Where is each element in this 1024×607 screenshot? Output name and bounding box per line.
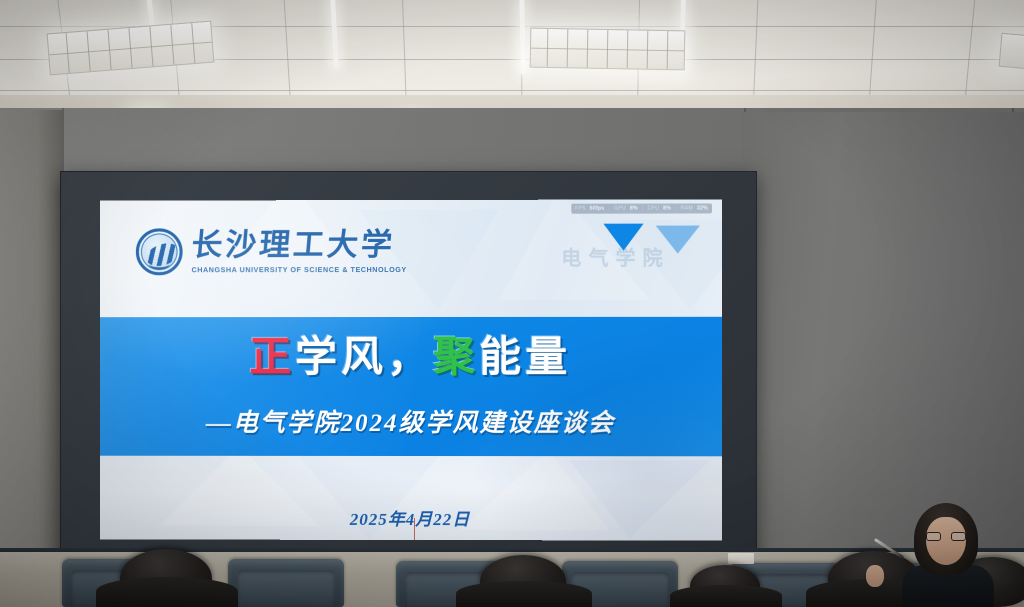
slide-header: FPS 60fps | GPU 8% | CPU 8% | RAM 32% [100,199,722,317]
presenter-hand [866,565,884,587]
ceiling-panel-light [530,28,686,71]
osd-gpu-label: GPU [614,206,626,212]
triangle-down-icon [656,226,700,254]
projected-slide: FPS 60fps | GPU 8% | CPU 8% | RAM 32% [100,199,722,540]
osd-fps-value: 60fps [590,206,605,212]
slide-title-band: 正学风，聚能量 —电气学院2024级学风建设座谈会 [100,317,722,456]
university-logo: 长沙理工大学 CHANGSHA UNIVERSITY OF SCIENCE & … [136,228,407,275]
university-crest-icon [136,228,183,275]
osd-ram-label: RAM [681,205,693,211]
triangle-down-icon [603,224,643,251]
osd-cpu-label: CPU [647,206,659,212]
headline-rest-1: 学风， [295,335,433,381]
slide-footer: 2025年4月22日 [100,456,722,541]
audience-shoulder [670,585,782,607]
text-caret [414,518,415,541]
university-name-en: CHANGSHA UNIVERSITY OF SCIENCE & TECHNOL… [192,265,407,274]
osd-fps-label: FPS [575,206,586,212]
osd-separator: | [675,206,677,212]
osd-overlay: FPS 60fps | GPU 8% | CPU 8% | RAM 32% [571,203,712,213]
osd-ram-value: 32% [697,205,708,211]
seated-presenter [900,503,996,607]
slide-headline: 正学风，聚能量 [100,337,722,379]
osd-cpu-value: 8% [663,206,671,212]
glasses-icon [926,532,966,541]
left-wall-panel [0,110,62,607]
headline-accent-2: 聚 [433,335,479,381]
osd-separator: | [608,206,610,212]
university-name-zh: 长沙理工大学 [190,229,408,260]
osd-gpu-value: 8% [630,206,638,212]
ceiling-panel-light [999,33,1024,69]
paper-sheet [728,553,754,564]
audience-shoulder [456,581,592,607]
headline-accent-1: 正 [249,335,295,381]
photo-scene: FPS 60fps | GPU 8% | CPU 8% | RAM 32% [0,0,1024,607]
audience-shoulder [96,577,238,607]
projection-screen-frame: FPS 60fps | GPU 8% | CPU 8% | RAM 32% [60,171,757,564]
slide-subtitle: —电气学院2024级学风建设座谈会 [100,403,722,439]
headline-rest-2: 能量 [479,335,571,381]
seat [228,559,344,607]
presenter-face [926,517,966,565]
slide-date: 2025年4月22日 [100,505,722,531]
osd-separator: | [642,206,644,212]
